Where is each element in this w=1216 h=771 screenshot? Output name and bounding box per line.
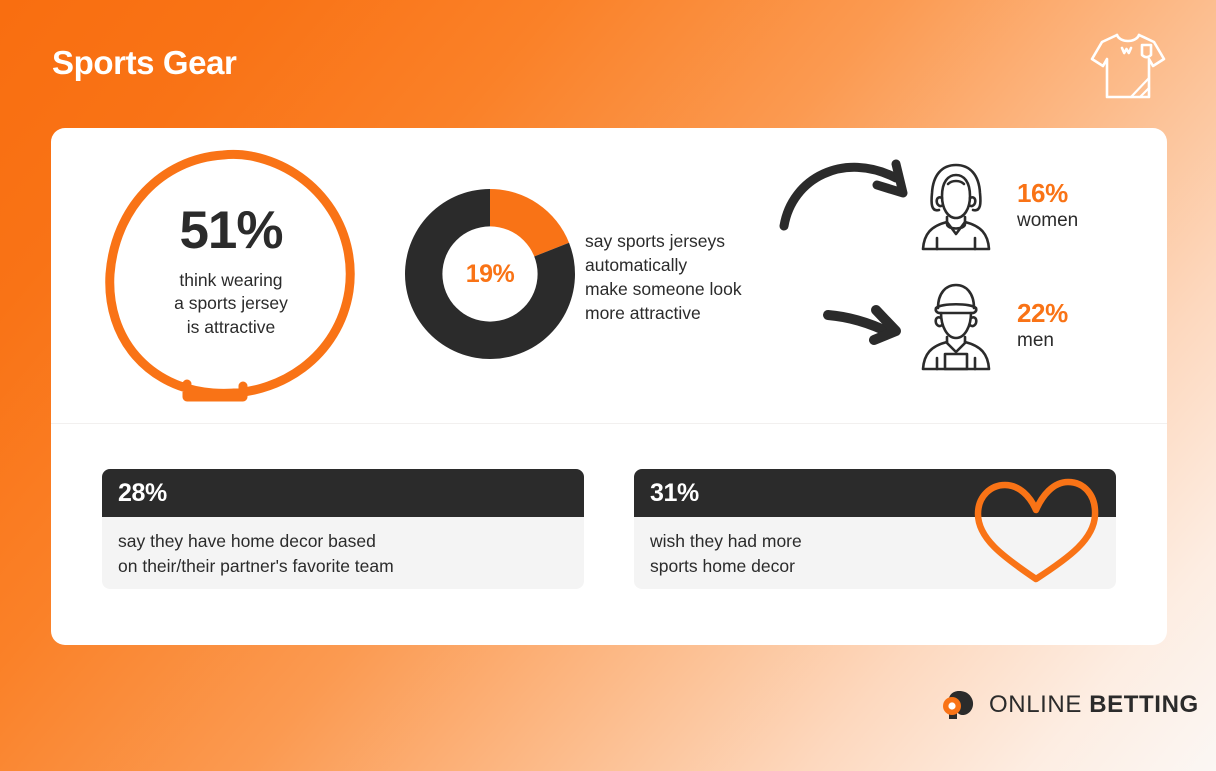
page-title: Sports Gear bbox=[52, 44, 237, 82]
ob-logo-icon bbox=[941, 690, 977, 720]
donut-caption-line-4: more attractive bbox=[585, 301, 815, 325]
stat-box-body: wish they had more sports home decor bbox=[634, 517, 1116, 589]
infographic-canvas: Sports Gear 51% think wearing a sports j… bbox=[0, 0, 1216, 771]
stat-box-percent: 31% bbox=[650, 479, 699, 508]
curved-arrow-icon bbox=[774, 148, 934, 238]
logo-word-betting: BETTING bbox=[1089, 691, 1199, 718]
stat-box-text-line-2: sports home decor bbox=[650, 554, 1100, 579]
brand-logo: ONLINE BETTING bbox=[941, 690, 1199, 720]
circle-caption-line-2: a sports jersey bbox=[174, 292, 288, 316]
women-label: women bbox=[1017, 209, 1078, 233]
main-card: 51% think wearing a sports jersey is att… bbox=[51, 128, 1167, 645]
stat-box-text-line-2: on their/their partner's favorite team bbox=[118, 554, 568, 579]
stat-box-text-line-1: say they have home decor based bbox=[118, 529, 568, 554]
stat-box-body: say they have home decor based on their/… bbox=[102, 517, 584, 589]
women-percent: 16% bbox=[1017, 179, 1078, 208]
gender-stat-men: 22% men bbox=[919, 280, 1068, 372]
men-percent: 22% bbox=[1017, 299, 1068, 328]
stat-box-wish-more-decor: 31% wish they had more sports home decor bbox=[634, 469, 1116, 589]
donut-caption-line-2: automatically bbox=[585, 253, 815, 277]
stat-box-text-line-1: wish they had more bbox=[650, 529, 1100, 554]
stat-box-percent: 28% bbox=[118, 479, 167, 508]
stat-box-header: 28% bbox=[102, 469, 584, 517]
logo-word-online: ONLINE bbox=[989, 691, 1082, 718]
stat-box-home-decor: 28% say they have home decor based on th… bbox=[102, 469, 584, 589]
circle-caption-line-3: is attractive bbox=[174, 316, 288, 340]
stat-box-header: 31% bbox=[634, 469, 1116, 517]
man-icon bbox=[919, 280, 993, 372]
gender-stat-women: 16% women bbox=[919, 160, 1078, 252]
circle-stat-caption: think wearing a sports jersey is attract… bbox=[174, 269, 288, 340]
circle-caption-line-1: think wearing bbox=[174, 269, 288, 293]
woman-icon bbox=[919, 160, 993, 252]
donut-caption-line-3: make someone look bbox=[585, 277, 815, 301]
donut-caption: say sports jerseys automatically make so… bbox=[585, 229, 815, 326]
circle-stat-51: 51% think wearing a sports jersey is att… bbox=[101, 143, 361, 408]
men-label: men bbox=[1017, 329, 1068, 353]
donut-chart: 19% bbox=[404, 188, 576, 360]
logo-text: ONLINE BETTING bbox=[989, 691, 1199, 719]
donut-center-label: 19% bbox=[404, 188, 576, 360]
short-arrow-icon bbox=[816, 293, 926, 353]
card-divider bbox=[51, 423, 1167, 424]
circle-stat-percent: 51% bbox=[179, 204, 282, 257]
jersey-icon bbox=[1086, 28, 1170, 104]
